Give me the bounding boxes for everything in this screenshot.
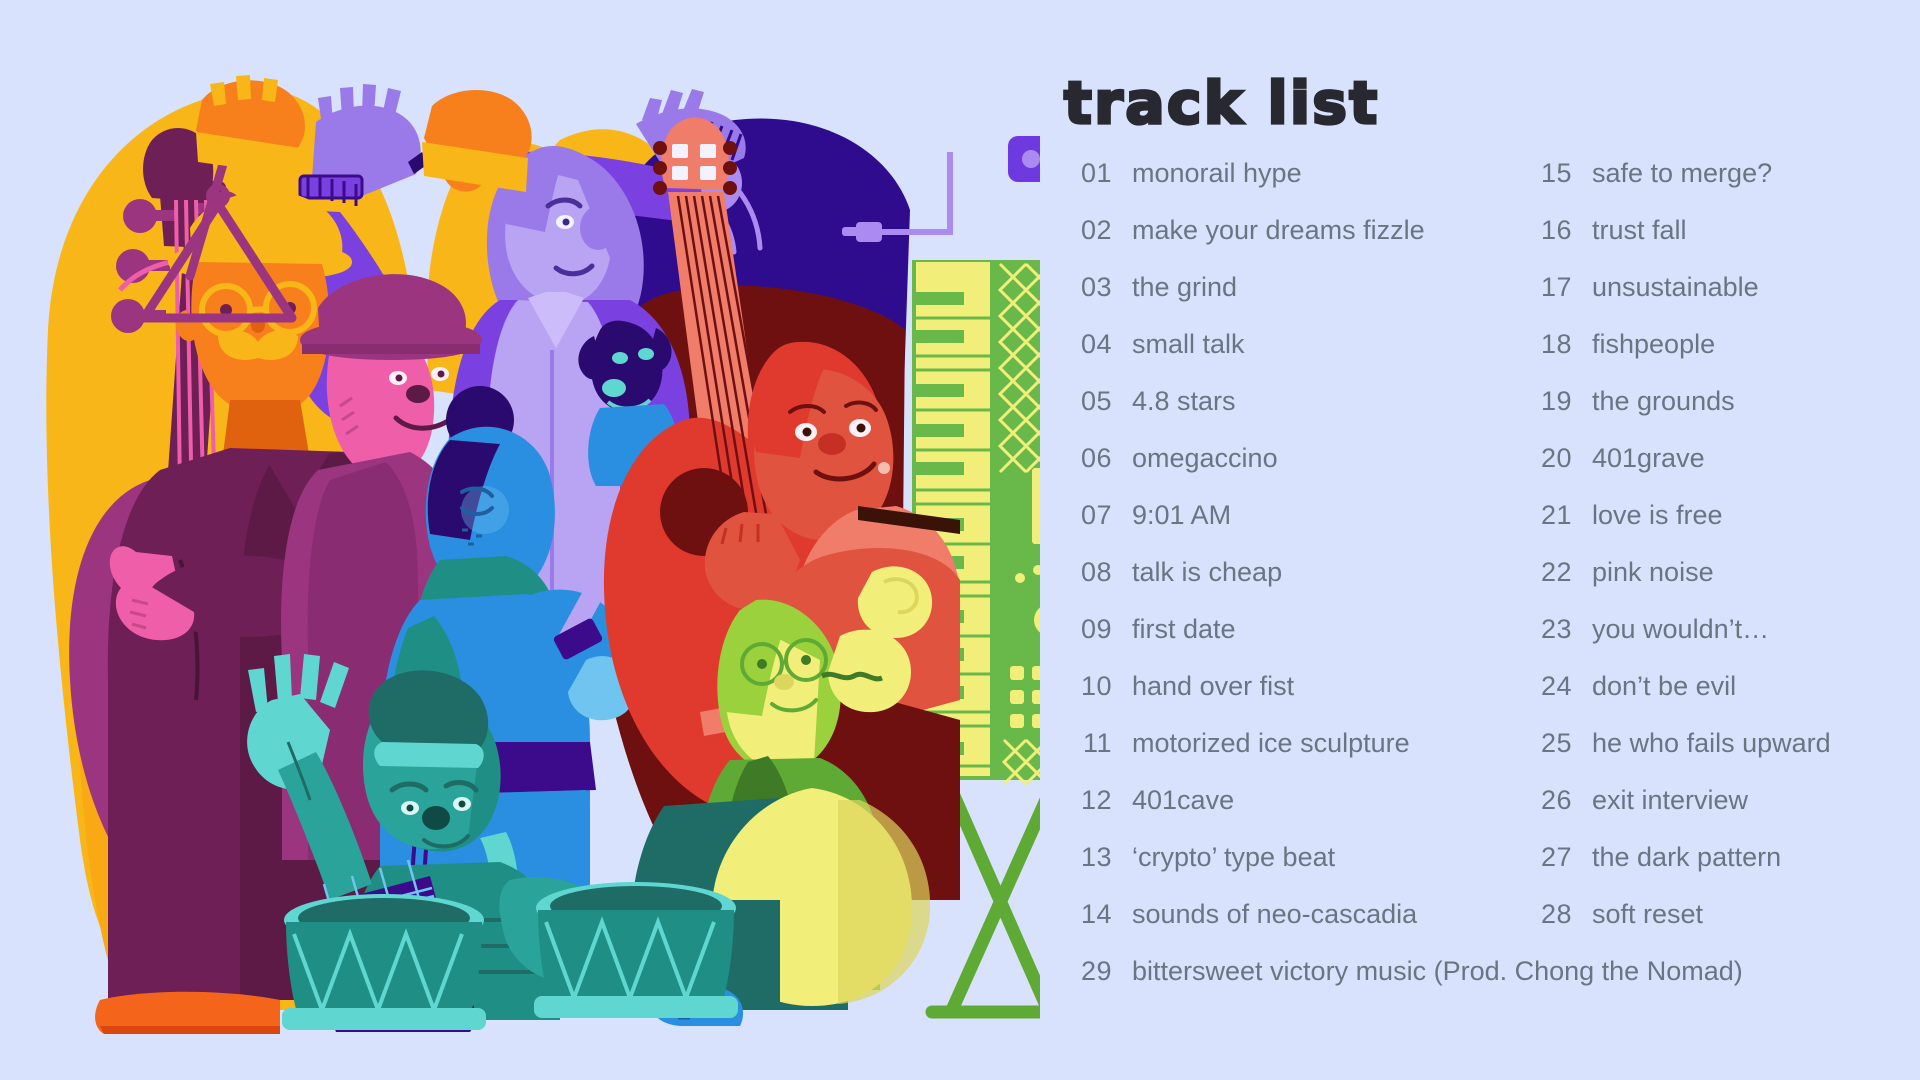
- track-title: unsustainable: [1572, 272, 1759, 303]
- hat-band: [302, 344, 480, 354]
- track-row[interactable]: 12401cave: [1060, 785, 1520, 842]
- track-number: 20: [1520, 443, 1572, 474]
- track-number: 12: [1060, 785, 1112, 816]
- track-row[interactable]: 25he who fails upward: [1520, 728, 1900, 785]
- track-title: ‘crypto’ type beat: [1112, 842, 1335, 873]
- track-title: sounds of neo-cascadia: [1112, 899, 1417, 930]
- track-number: 22: [1520, 557, 1572, 588]
- track-row[interactable]: 03the grind: [1060, 272, 1520, 329]
- triangle-hand-left: [196, 75, 305, 176]
- bongo-right: [534, 882, 738, 1018]
- track-row[interactable]: 14sounds of neo-cascadia: [1060, 899, 1520, 956]
- track-row[interactable]: 18fishpeople: [1520, 329, 1900, 386]
- hat-person-nose: [406, 385, 430, 403]
- track-number: 05: [1060, 386, 1112, 417]
- track-title: first date: [1112, 614, 1236, 645]
- track-number: 03: [1060, 272, 1112, 303]
- track-row[interactable]: 06omegaccino: [1060, 443, 1520, 500]
- track-number: 08: [1060, 557, 1112, 588]
- pedal-board: [95, 992, 280, 1034]
- track-number: 06: [1060, 443, 1112, 474]
- track-row[interactable]: 16trust fall: [1520, 215, 1900, 272]
- track-title: monorail hype: [1112, 158, 1302, 189]
- track-title: bittersweet victory music (Prod. Chong t…: [1112, 956, 1743, 987]
- track-title: hand over fist: [1112, 671, 1294, 702]
- track-number: 16: [1520, 215, 1572, 246]
- flute-cheek-highlight: [461, 486, 509, 534]
- track-column-left: 01monorail hype 02make your dreams fizzl…: [1060, 158, 1520, 956]
- track-title: safe to merge?: [1572, 158, 1772, 189]
- track-row[interactable]: 054.8 stars: [1060, 386, 1520, 443]
- track-title: pink noise: [1572, 557, 1714, 588]
- drummer-nose: [422, 806, 450, 830]
- track-row[interactable]: 28soft reset: [1520, 899, 1900, 956]
- track-number: 28: [1520, 899, 1572, 930]
- track-number: 04: [1060, 329, 1112, 360]
- track-number: 14: [1060, 899, 1112, 930]
- track-row[interactable]: 22pink noise: [1520, 557, 1900, 614]
- dog-eye-l: [612, 352, 628, 364]
- track-number: 10: [1060, 671, 1112, 702]
- track-number: 23: [1520, 614, 1572, 645]
- guitarist-earring: [878, 462, 890, 474]
- guitarist-nose: [818, 433, 846, 455]
- track-row[interactable]: 21love is free: [1520, 500, 1900, 557]
- band-illustration-svg: [0, 0, 1040, 1080]
- bongo-left-base: [282, 1008, 486, 1030]
- track-title: the dark pattern: [1572, 842, 1781, 873]
- track-row[interactable]: 10hand over fist: [1060, 671, 1520, 728]
- track-title: fishpeople: [1572, 329, 1715, 360]
- track-row[interactable]: 27the dark pattern: [1520, 842, 1900, 899]
- track-row[interactable]: 08talk is cheap: [1060, 557, 1520, 614]
- track-number: 18: [1520, 329, 1572, 360]
- track-title: 401grave: [1572, 443, 1705, 474]
- track-number: 24: [1520, 671, 1572, 702]
- track-list-grid: 01monorail hype 02make your dreams fizzl…: [1060, 158, 1900, 1013]
- track-number: 11: [1060, 728, 1112, 759]
- track-row[interactable]: 20401grave: [1520, 443, 1900, 500]
- track-number: 01: [1060, 158, 1112, 189]
- track-title: you wouldn’t…: [1572, 614, 1769, 645]
- track-title: 4.8 stars: [1112, 386, 1236, 417]
- track-number: 09: [1060, 614, 1112, 645]
- track-title: talk is cheap: [1112, 557, 1282, 588]
- bongo-right-shell: [538, 910, 734, 1010]
- track-title: the grounds: [1572, 386, 1735, 417]
- band-illustration: [0, 0, 1040, 1080]
- track-title: omegaccino: [1112, 443, 1278, 474]
- track-number: 07: [1060, 500, 1112, 531]
- amp-knob: [1022, 150, 1040, 168]
- track-row[interactable]: 24don’t be evil: [1520, 671, 1900, 728]
- track-row[interactable]: 23you wouldn’t…: [1520, 614, 1900, 671]
- dog-eye-r: [638, 348, 654, 360]
- track-row[interactable]: 02make your dreams fizzle: [1060, 215, 1520, 272]
- track-title: small talk: [1112, 329, 1245, 360]
- track-number: 13: [1060, 842, 1112, 873]
- singer-pupil: [563, 219, 570, 226]
- track-number: 15: [1520, 158, 1572, 189]
- triangle-hand-right: [422, 90, 532, 192]
- track-list-panel: track list 01monorail hype 02make your d…: [1060, 74, 1900, 1013]
- synth-led-1: [1015, 573, 1025, 583]
- track-number: 26: [1520, 785, 1572, 816]
- track-row[interactable]: 11motorized ice sculpture: [1060, 728, 1520, 785]
- track-title: 9:01 AM: [1112, 500, 1231, 531]
- page-title: track list: [1060, 74, 1900, 132]
- track-number: 27: [1520, 842, 1572, 873]
- track-number: 02: [1060, 215, 1112, 246]
- track-row[interactable]: 17unsustainable: [1520, 272, 1900, 329]
- track-number: 21: [1520, 500, 1572, 531]
- track-title: exit interview: [1572, 785, 1748, 816]
- track-number: 17: [1520, 272, 1572, 303]
- bongo-right-base: [534, 996, 738, 1018]
- track-row[interactable]: 19the grounds: [1520, 386, 1900, 443]
- track-column-right: 15safe to merge? 16trust fall 17unsustai…: [1520, 158, 1900, 956]
- track-title: love is free: [1572, 500, 1723, 531]
- track-row[interactable]: 01monorail hype: [1060, 158, 1520, 215]
- flute-player-nose: [522, 509, 550, 531]
- track-title: don’t be evil: [1572, 671, 1736, 702]
- track-number: 25: [1520, 728, 1572, 759]
- track-title: soft reset: [1572, 899, 1703, 930]
- track-number: 29: [1060, 956, 1112, 987]
- track-title: motorized ice sculpture: [1112, 728, 1410, 759]
- track-title: the grind: [1112, 272, 1237, 303]
- keyboardist-nose: [774, 674, 794, 690]
- dog-snout: [602, 379, 626, 397]
- track-title: he who fails upward: [1572, 728, 1831, 759]
- bongo-left: [282, 894, 486, 1030]
- track-title: make your dreams fizzle: [1112, 215, 1425, 246]
- drummer-headband: [374, 742, 484, 768]
- singer-nose: [580, 206, 616, 250]
- track-number: 19: [1520, 386, 1572, 417]
- track-row[interactable]: 079:01 AM: [1060, 500, 1520, 557]
- track-row[interactable]: 26exit interview: [1520, 785, 1900, 842]
- track-title: 401cave: [1112, 785, 1234, 816]
- track-row[interactable]: 13‘crypto’ type beat: [1060, 842, 1520, 899]
- album-artwork-page: track list 01monorail hype 02make your d…: [0, 0, 1920, 1080]
- track-title: trust fall: [1572, 215, 1687, 246]
- synth-display: [1032, 468, 1040, 544]
- track-row[interactable]: 29 bittersweet victory music (Prod. Chon…: [1060, 956, 1900, 1013]
- bongo-left-shell: [286, 922, 482, 1022]
- track-row[interactable]: 04small talk: [1060, 329, 1520, 386]
- track-row[interactable]: 15safe to merge?: [1520, 158, 1900, 215]
- track-row[interactable]: 09first date: [1060, 614, 1520, 671]
